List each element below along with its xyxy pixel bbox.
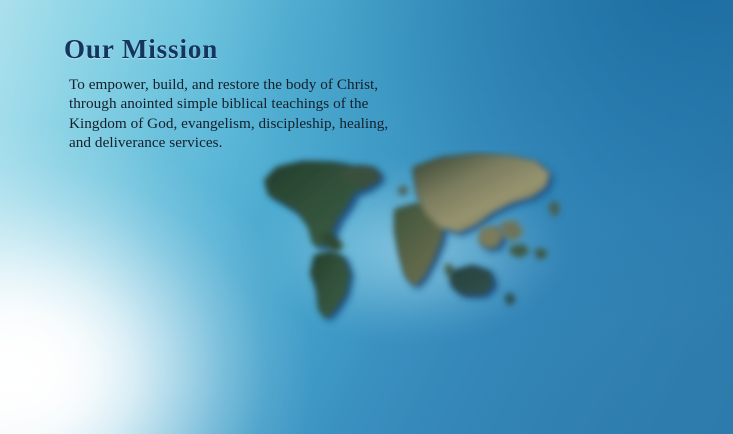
mission-text-block: Our Mission To empower, build, and resto… bbox=[64, 34, 584, 152]
mission-banner: Our Mission To empower, build, and resto… bbox=[0, 0, 733, 434]
mission-statement: To empower, build, and restore the body … bbox=[69, 75, 584, 153]
page-title: Our Mission bbox=[64, 34, 584, 66]
mission-line: Kingdom of God, evangelism, discipleship… bbox=[69, 114, 584, 133]
mission-line: through anointed simple biblical teachin… bbox=[69, 94, 584, 113]
mission-line: and deliverance services. bbox=[69, 133, 584, 152]
world-map-halo bbox=[238, 142, 610, 358]
mission-line: To empower, build, and restore the body … bbox=[69, 75, 584, 94]
world-map-graphic bbox=[248, 150, 598, 350]
